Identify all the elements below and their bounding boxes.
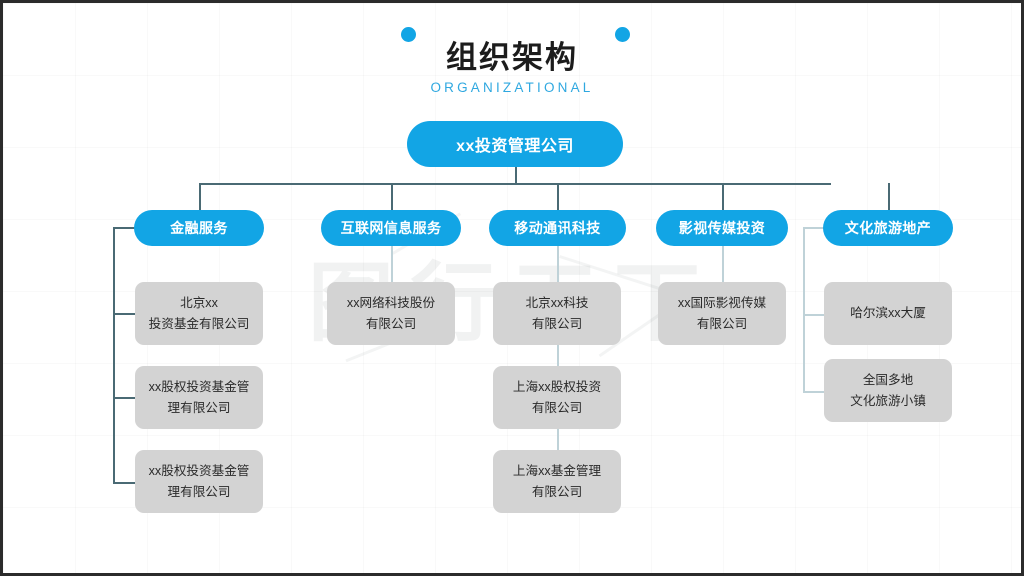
connector-stub-col5-header — [803, 227, 825, 229]
node-branch-internet-information-services[interactable]: 互联网信息服务 — [321, 210, 461, 246]
org-chart-canvas: 图行天下 组织架构 ORGANIZATIONAL — [0, 0, 1024, 576]
node-root-label: xx投资管理公司 — [456, 132, 574, 156]
connector-root-stem — [515, 167, 517, 184]
node-leaf-col3-2[interactable]: 上海xx股权投资 有限公司 — [493, 366, 621, 429]
node-leaf-line: xx国际影视传媒 — [678, 293, 766, 314]
node-leaf-col2-1[interactable]: xx网络科技股份 有限公司 — [327, 282, 455, 345]
node-root[interactable]: xx投资管理公司 — [407, 121, 623, 167]
node-leaf-line: 投资基金有限公司 — [149, 314, 250, 335]
node-leaf-col3-1[interactable]: 北京xx科技 有限公司 — [493, 282, 621, 345]
node-leaf-col5-2[interactable]: 全国多地 文化旅游小镇 — [824, 359, 952, 422]
node-branch-label: 互联网信息服务 — [341, 218, 442, 238]
node-leaf-line: 理有限公司 — [168, 482, 231, 503]
connector-col3-child2-to-child3 — [557, 428, 559, 450]
node-leaf-line: 文化旅游小镇 — [850, 391, 926, 412]
node-branch-label: 金融服务 — [170, 218, 228, 238]
node-branch-culture-tourism-realestate[interactable]: 文化旅游地产 — [823, 210, 953, 246]
connector-drop-branch-2 — [391, 183, 393, 210]
node-leaf-line: 上海xx基金管理 — [513, 461, 601, 482]
node-leaf-col1-1[interactable]: 北京xx 投资基金有限公司 — [135, 282, 263, 345]
page-title: 组织架构 ORGANIZATIONAL — [3, 41, 1021, 95]
title-dot-left-icon — [401, 27, 416, 42]
connector-drop-branch-1 — [199, 183, 201, 210]
node-leaf-line: 有限公司 — [532, 398, 582, 419]
node-branch-financial-services[interactable]: 金融服务 — [134, 210, 264, 246]
connector-branch-bus — [199, 183, 831, 185]
connector-drop-branch-3 — [557, 183, 559, 210]
node-branch-label: 影视传媒投资 — [679, 218, 765, 238]
node-leaf-line: xx股权投资基金管 — [149, 461, 250, 482]
connector-stub-col1-child3 — [113, 482, 135, 484]
node-leaf-line: 全国多地 — [863, 370, 913, 391]
node-leaf-col1-2[interactable]: xx股权投资基金管 理有限公司 — [135, 366, 263, 429]
node-leaf-col3-3[interactable]: 上海xx基金管理 有限公司 — [493, 450, 621, 513]
connector-stub-col5-child2 — [803, 391, 825, 393]
connector-col2-header-to-child — [391, 246, 393, 282]
connector-stub-col1-header — [113, 227, 135, 229]
node-leaf-line: 有限公司 — [697, 314, 747, 335]
connector-drop-branch-4 — [722, 183, 724, 210]
node-leaf-line: 有限公司 — [532, 482, 582, 503]
node-leaf-col5-1[interactable]: 哈尔滨xx大厦 — [824, 282, 952, 345]
node-branch-label: 移动通讯科技 — [514, 218, 600, 238]
title-subtitle-text: ORGANIZATIONAL — [3, 80, 1021, 95]
connector-rail-col5 — [803, 227, 805, 391]
node-leaf-col1-3[interactable]: xx股权投资基金管 理有限公司 — [135, 450, 263, 513]
connector-rail-col1 — [113, 227, 115, 483]
title-dot-right-icon — [615, 27, 630, 42]
node-branch-mobile-communication-tech[interactable]: 移动通讯科技 — [489, 210, 626, 246]
node-leaf-line: 北京xx科技 — [526, 293, 589, 314]
node-leaf-col4-1[interactable]: xx国际影视传媒 有限公司 — [658, 282, 786, 345]
node-leaf-line: 上海xx股权投资 — [513, 377, 601, 398]
connector-col4-header-to-child — [722, 246, 724, 282]
node-leaf-line: 有限公司 — [366, 314, 416, 335]
node-branch-label: 文化旅游地产 — [845, 218, 931, 238]
node-leaf-line: 理有限公司 — [168, 398, 231, 419]
node-leaf-line: 有限公司 — [532, 314, 582, 335]
connector-stub-col1-child1 — [113, 313, 135, 315]
connector-stub-col5-child1 — [803, 314, 825, 316]
connector-col3-child1-to-child2 — [557, 344, 559, 366]
title-main-text: 组织架构 — [3, 41, 1021, 77]
node-leaf-line: xx股权投资基金管 — [149, 377, 250, 398]
node-branch-film-media-investment[interactable]: 影视传媒投资 — [656, 210, 788, 246]
node-leaf-line: 哈尔滨xx大厦 — [850, 303, 926, 324]
node-leaf-line: xx网络科技股份 — [347, 293, 435, 314]
node-leaf-line: 北京xx — [180, 293, 218, 314]
connector-stub-col1-child2 — [113, 397, 135, 399]
connector-col3-header-to-child1 — [557, 246, 559, 282]
connector-drop-branch-5 — [888, 183, 890, 210]
